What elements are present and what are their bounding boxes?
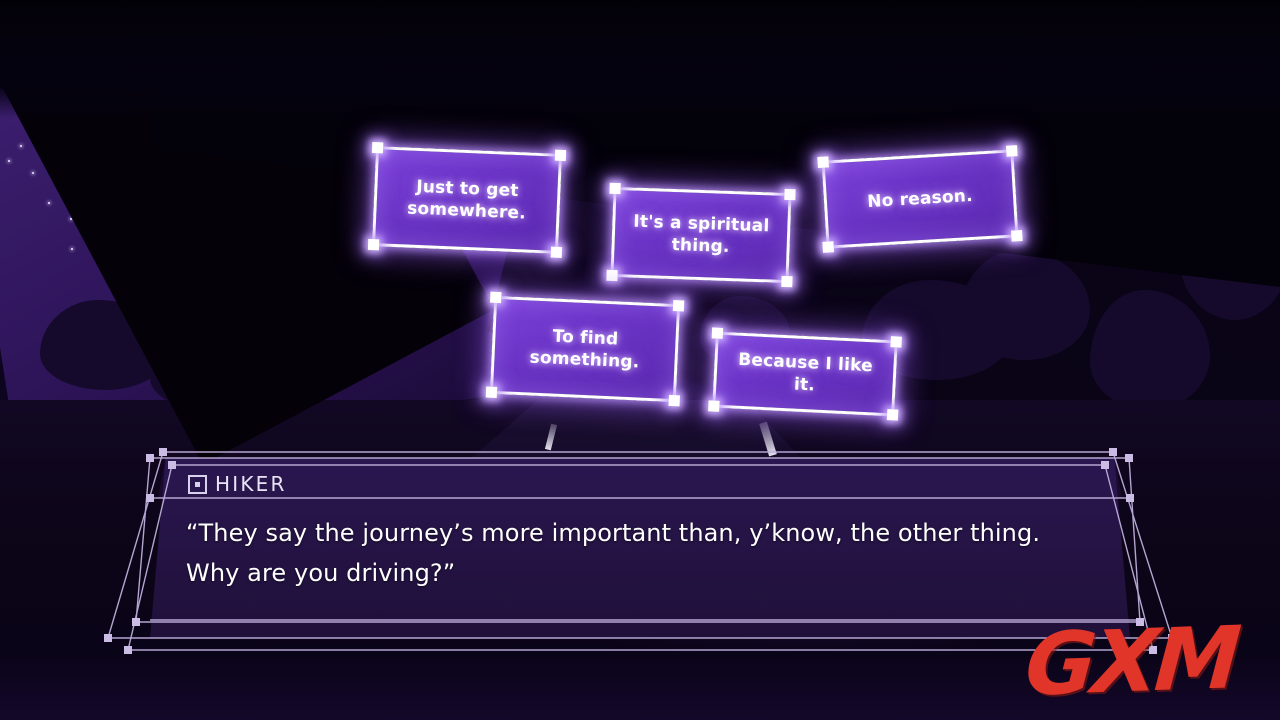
corner-node-icon [712, 327, 724, 339]
corner-node-icon [890, 336, 902, 348]
star [20, 145, 22, 147]
corner-node-icon [817, 156, 829, 168]
star [71, 248, 73, 250]
dialogue-text: “They say the journey’s more important t… [186, 513, 1106, 593]
corner-node-icon [555, 150, 566, 161]
speaker-nameplate: HIKER [188, 472, 287, 496]
corner-node-icon [368, 239, 379, 250]
corner-node-icon [606, 270, 617, 281]
choice-label: To find something. [494, 323, 676, 375]
star [32, 172, 34, 174]
corner-node-icon [887, 409, 899, 421]
corner-node-icon [822, 241, 834, 253]
star [48, 202, 50, 204]
corner-node-icon [669, 395, 680, 406]
corner-node-icon [708, 400, 720, 412]
choice-option-5[interactable]: Because I like it. [712, 332, 897, 417]
corner-node-icon [490, 292, 501, 303]
corner-node-icon [609, 183, 620, 194]
dialogue-line-2: Why are you driving?” [186, 553, 1106, 593]
square-marker-icon [188, 475, 207, 494]
corner-node-icon [784, 189, 795, 200]
choice-option-1[interactable]: Just to get somewhere. [372, 146, 562, 254]
game-screen: Just to get somewhere. It's a spiritual … [0, 0, 1280, 720]
dialogue-line-1: “They say the journey’s more important t… [186, 513, 1106, 553]
choice-option-3[interactable]: No reason. [822, 149, 1019, 248]
corner-node-icon [551, 247, 562, 258]
corner-node-icon [673, 300, 684, 311]
star [8, 160, 10, 162]
corner-node-icon [1011, 230, 1023, 242]
corner-node-icon [486, 387, 497, 398]
choice-label: Just to get somewhere. [376, 174, 558, 226]
gxm-watermark: GXM [1022, 608, 1240, 715]
choice-label: Because I like it. [716, 348, 894, 401]
choice-option-2[interactable]: It's a spiritual thing. [610, 187, 791, 283]
choice-label: No reason. [855, 184, 986, 214]
corner-node-icon [372, 142, 383, 153]
choice-label: It's a spiritual thing. [614, 210, 787, 260]
roof-interior [0, 0, 1280, 118]
speaker-name: HIKER [215, 472, 287, 496]
corner-node-icon [781, 276, 792, 287]
corner-node-icon [1006, 145, 1018, 157]
choice-option-4[interactable]: To find something. [490, 296, 680, 402]
